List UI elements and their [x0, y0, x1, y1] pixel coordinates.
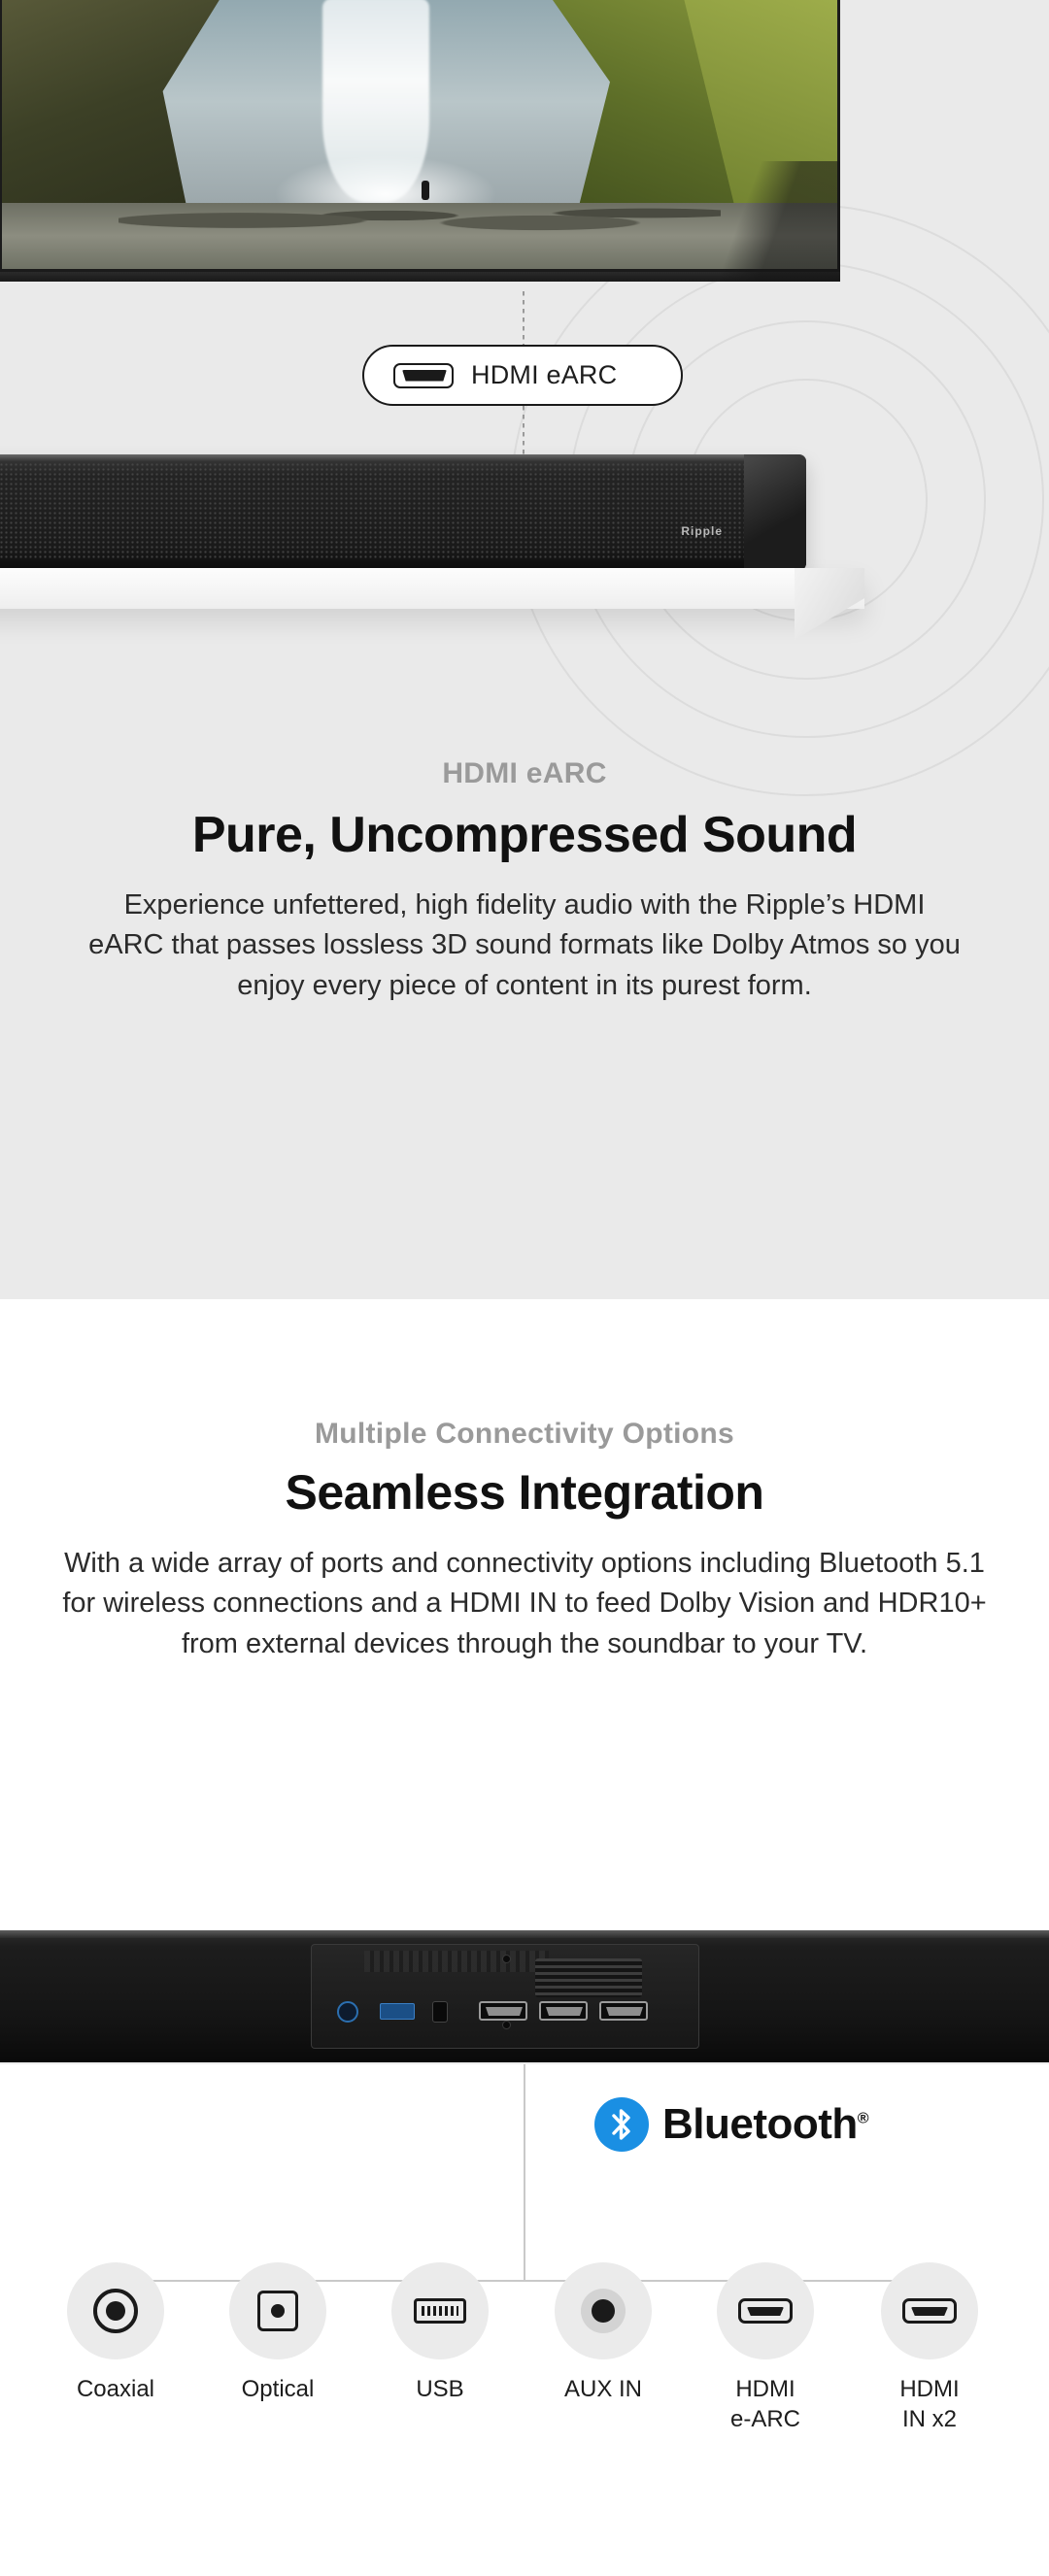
port-label-coaxial: Coaxial	[33, 2375, 198, 2405]
port-label-aux-in: AUX IN	[521, 2375, 686, 2405]
product-page: HDMI eARC Ripple HDMI eARC Pure, Uncompr…	[0, 0, 1049, 2576]
rear-hdmi-port-1	[479, 2001, 527, 2021]
hdmi-earc-port-icon	[738, 2298, 793, 2324]
bluetooth-registered-mark: ®	[858, 2110, 868, 2126]
usb-port-icon	[414, 2298, 466, 2324]
earc-body: Experience unfettered, high fidelity aud…	[87, 886, 962, 1006]
port-label-optical: Optical	[195, 2375, 360, 2405]
soundbar-rear-photo	[0, 1930, 1049, 2064]
bluetooth-badge: Bluetooth®	[594, 2097, 868, 2152]
earc-text-block: HDMI eARC Pure, Uncompressed Sound Exper…	[0, 757, 1049, 1006]
port-legend-coaxial: Coaxial	[33, 2262, 198, 2405]
port-legend-usb: USB	[357, 2262, 523, 2405]
optical-port-icon	[257, 2291, 298, 2331]
earc-eyebrow: HDMI eARC	[0, 757, 1049, 790]
port-label-usb: USB	[357, 2375, 523, 2405]
port-label-hdmi-earc: HDMI e-ARC	[683, 2375, 848, 2434]
rear-hdmi-port-2	[539, 2001, 588, 2021]
rear-usb-port	[380, 2003, 415, 2020]
connectivity-headline: Seamless Integration	[0, 1464, 1049, 1521]
connector-dotted-line-bottom	[523, 406, 524, 454]
connector-dotted-line-top	[523, 291, 524, 351]
rear-hdmi-port-3	[599, 2001, 648, 2021]
earc-headline: Pure, Uncompressed Sound	[0, 806, 1049, 864]
shelf-side	[795, 568, 864, 640]
port-legend-hdmi-in: HDMI IN x2	[847, 2262, 1012, 2434]
television	[0, 0, 840, 282]
bluetooth-icon	[594, 2097, 649, 2152]
hdmi-in-port-icon	[902, 2298, 957, 2324]
rear-aux-port	[432, 2001, 448, 2023]
hdmi-port-icon	[393, 363, 454, 388]
soundbar-brand-logo: Ripple	[681, 524, 723, 538]
soundbar-hero: Ripple	[0, 454, 806, 571]
shelf	[0, 568, 864, 609]
port-label-hdmi-in: HDMI IN x2	[847, 2375, 1012, 2434]
rear-port-panel	[311, 1944, 699, 2049]
port-legend-hdmi-earc: HDMI e-ARC	[683, 2262, 848, 2434]
hero-section: HDMI eARC Ripple HDMI eARC Pure, Uncompr…	[0, 0, 1049, 1299]
port-legend-optical: Optical	[195, 2262, 360, 2405]
bluetooth-wordmark: Bluetooth®	[662, 2100, 868, 2149]
rear-coaxial-port	[337, 2001, 358, 2023]
soundbar-grille	[0, 462, 748, 559]
port-legend-aux-in: AUX IN	[521, 2262, 686, 2405]
connectivity-text-section: Multiple Connectivity Options Seamless I…	[0, 1299, 1049, 1930]
hdmi-earc-callout: HDMI eARC	[362, 345, 683, 406]
coaxial-port-icon	[93, 2289, 138, 2333]
tv-shadow	[679, 161, 840, 282]
hdmi-earc-callout-label: HDMI eARC	[471, 360, 617, 390]
connectivity-eyebrow: Multiple Connectivity Options	[0, 1418, 1049, 1451]
connectivity-body: With a wide array of ports and connectiv…	[58, 1544, 991, 1664]
ports-diagram-section	[0, 1930, 1049, 2576]
aux-in-port-icon	[581, 2289, 626, 2333]
